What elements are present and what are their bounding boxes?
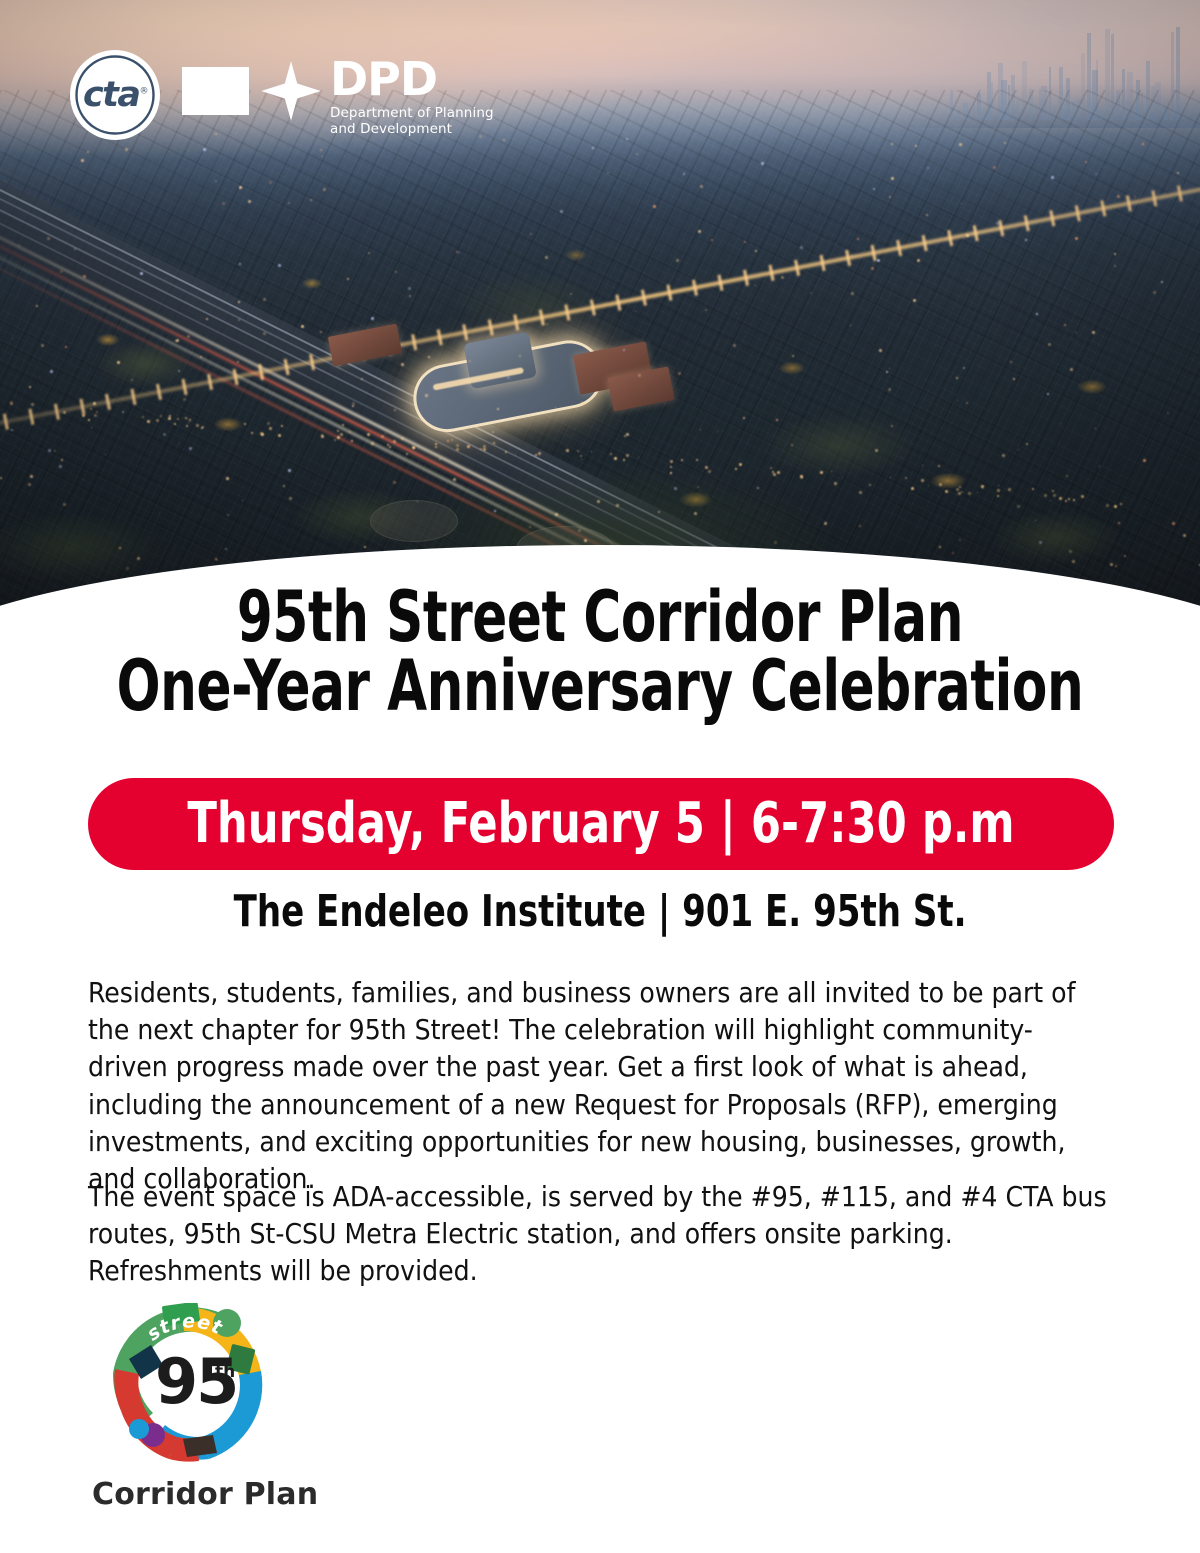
venue-line: The Endeleo Institute | 901 E. 95th St. (0, 890, 1200, 934)
title-line-2: One-Year Anniversary Celebration (108, 652, 1092, 721)
dpd-department-line-2: and Development (330, 121, 494, 137)
95th-street-ring-icon: 95 th street (96, 1303, 286, 1475)
agency-logo-bar: cta® DPD Department of Planning and Deve… (70, 50, 494, 140)
cta-wordmark: cta® (83, 78, 147, 113)
event-datetime: Thursday, February 5 | 6-7:30 p.m (187, 796, 1014, 852)
dpd-abbreviation: DPD (330, 60, 494, 100)
dpd-department-line-1: Department of Planning (330, 105, 494, 121)
corridor-plan-caption: Corridor Plan (92, 1477, 318, 1512)
page-title: 95th Street Corridor Plan One-Year Anniv… (108, 583, 1092, 720)
dpd-text-block: DPD Department of Planning and Developme… (330, 60, 494, 137)
flyer: cta® DPD Department of Planning and Deve… (0, 0, 1200, 1553)
paragraph-1-text: Residents, students, families, and busin… (88, 974, 1108, 1197)
paragraph-2-text: The event space is ADA-accessible, is se… (88, 1178, 1108, 1290)
cta-roundel-icon (70, 50, 160, 140)
corridor-plan-logo: 95 th street (96, 1303, 286, 1475)
dpd-rectangle-icon (182, 67, 249, 115)
cta-logo: cta® (70, 50, 160, 140)
datetime-banner: Thursday, February 5 | 6-7:30 p.m (88, 778, 1114, 870)
chicago-star-icon (260, 60, 322, 122)
svg-text:th: th (215, 1362, 235, 1382)
cta-trademark: ® (140, 86, 148, 96)
body-paragraph-2: The event space is ADA-accessible, is se… (88, 1178, 1108, 1290)
body-paragraph-1: Residents, students, families, and busin… (88, 974, 1108, 1197)
dpd-logo: DPD Department of Planning and Developme… (182, 50, 494, 137)
dpd-mark (182, 60, 322, 122)
venue-text: The Endeleo Institute | 901 E. 95th St. (234, 890, 967, 934)
